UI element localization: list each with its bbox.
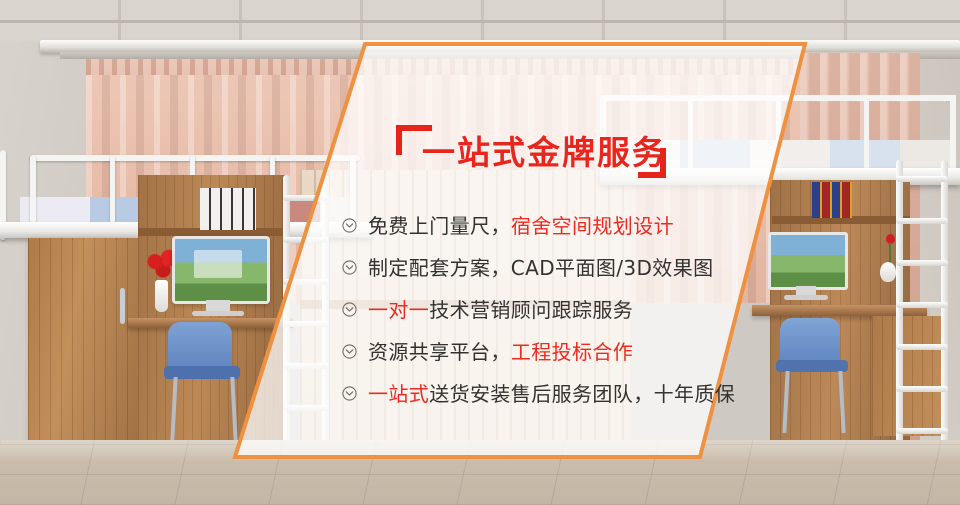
feature-text-highlight: 宿舍空间规划设计: [511, 214, 674, 238]
feature-text-plain: 送货安装售后服务团队，十年质保: [429, 382, 735, 406]
feature-item: 制定配套方案，CAD平面图/3D效果图: [342, 248, 942, 284]
check-circle-icon: [342, 218, 357, 233]
check-circle-icon: [342, 344, 357, 359]
feature-text-plain: 资源共享平台，: [368, 340, 511, 364]
feature-list: 免费上门量尺，宿舍空间规划设计制定配套方案，CAD平面图/3D效果图一对一技术营…: [342, 206, 942, 416]
feature-item-label: 制定配套方案，CAD平面图/3D效果图: [368, 252, 714, 281]
feature-text-plain: 制定配套方案，CAD平面图/3D效果图: [368, 256, 714, 280]
feature-text-plain: 免费上门量尺，: [368, 214, 511, 238]
feature-text-highlight: 一站式: [368, 382, 429, 406]
feature-item-label: 资源共享平台，工程投标合作: [368, 336, 633, 365]
feature-text-highlight: 工程投标合作: [511, 340, 633, 364]
feature-item: 资源共享平台，工程投标合作: [342, 332, 942, 368]
corner-bracket-icon: [660, 148, 666, 178]
check-circle-icon: [342, 302, 357, 317]
feature-item-label: 一对一技术营销顾问跟踪服务: [368, 294, 633, 323]
feature-text-highlight: 一对一: [368, 298, 429, 322]
banner-content: 一站式金牌服务 免费上门量尺，宿舍空间规划设计制定配套方案，CAD平面图/3D效…: [0, 0, 960, 505]
check-circle-icon: [342, 386, 357, 401]
check-circle-icon: [342, 260, 357, 275]
feature-item: 一对一技术营销顾问跟踪服务: [342, 290, 942, 326]
feature-item: 一站式送货安装售后服务团队，十年质保: [342, 374, 942, 410]
page-title: 一站式金牌服务: [422, 126, 667, 174]
feature-item: 免费上门量尺，宿舍空间规划设计: [342, 206, 942, 242]
service-banner: 一站式金牌服务 免费上门量尺，宿舍空间规划设计制定配套方案，CAD平面图/3D效…: [0, 0, 960, 505]
feature-text-plain: 技术营销顾问跟踪服务: [429, 298, 633, 322]
heading-block: 一站式金牌服务: [396, 120, 676, 184]
corner-bracket-icon: [396, 125, 402, 155]
feature-item-label: 一站式送货安装售后服务团队，十年质保: [368, 378, 735, 407]
feature-item-label: 免费上门量尺，宿舍空间规划设计: [368, 210, 674, 239]
